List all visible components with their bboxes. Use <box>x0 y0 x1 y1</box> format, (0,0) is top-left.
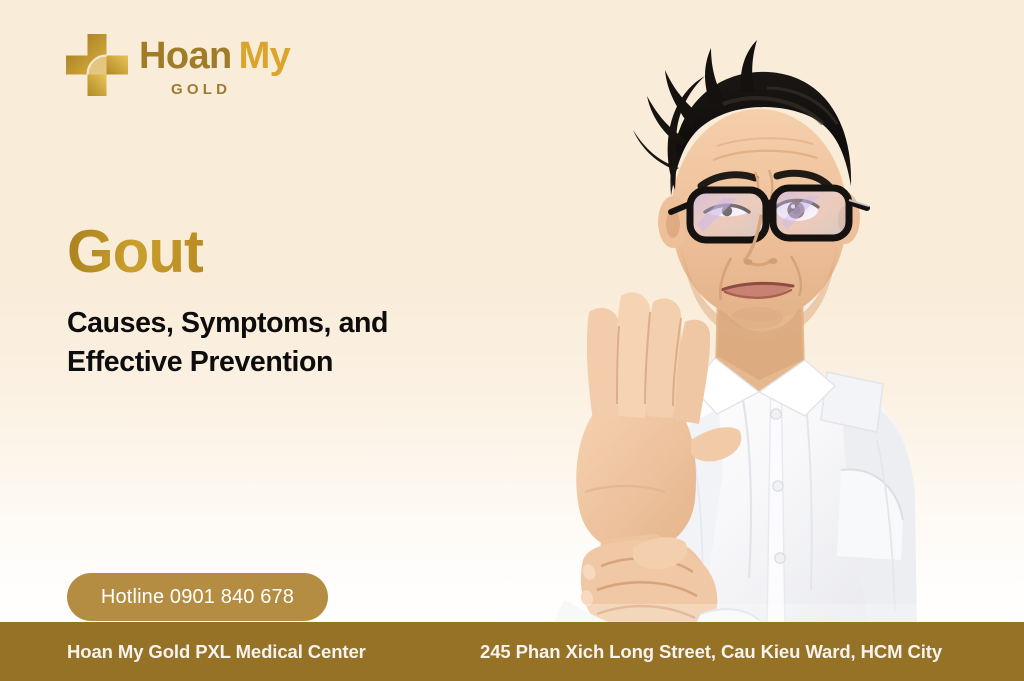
brand-logo[interactable]: HoanMy GOLD <box>66 33 290 98</box>
brand-wordmark-group: HoanMy GOLD <box>139 33 290 98</box>
brand-wordmark: HoanMy <box>139 37 290 75</box>
brand-tagline: GOLD <box>171 81 231 98</box>
footer-address: 245 Phan Xich Long Street, Cau Kieu Ward… <box>480 641 942 663</box>
footer-organization-name: Hoan My Gold PXL Medical Center <box>67 641 366 663</box>
brand-word-my: My <box>239 35 291 77</box>
page-subtitle: Causes, Symptoms, and Effective Preventi… <box>67 304 497 383</box>
gout-awareness-banner: HoanMy GOLD Gout Causes, Symptoms, and E… <box>0 0 1024 681</box>
medical-cross-icon <box>66 34 128 96</box>
hero-text-block: Gout Causes, Symptoms, and Effective Pre… <box>67 222 497 383</box>
hero-photo <box>505 0 975 632</box>
hotline-button[interactable]: Hotline 0901 840 678 <box>67 573 328 621</box>
page-title: Gout <box>67 222 203 282</box>
footer-bar: Hoan My Gold PXL Medical Center 245 Phan… <box>0 622 1024 681</box>
brand-word-hoan: Hoan <box>139 35 232 77</box>
hotline-label: Hotline 0901 840 678 <box>101 586 294 609</box>
